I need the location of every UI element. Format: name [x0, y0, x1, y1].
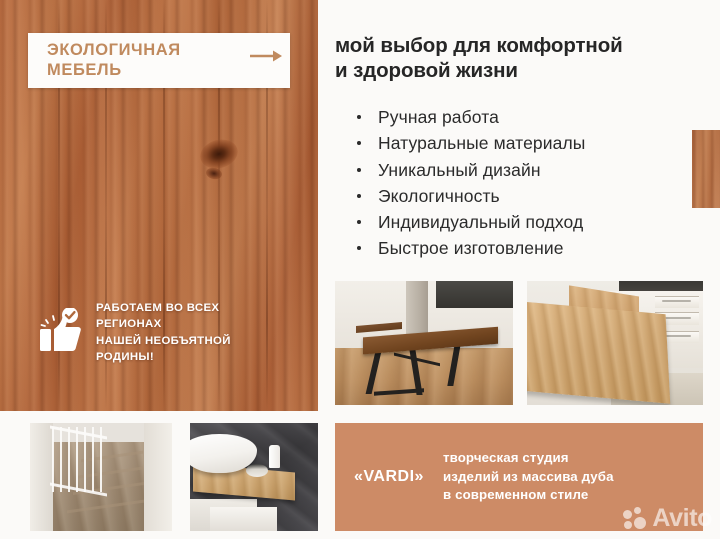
bullet-icon [357, 115, 361, 119]
list-item: Уникальный дизайн [352, 157, 702, 183]
brand-name: «VARDI» [335, 468, 443, 486]
bullet-icon [357, 220, 361, 224]
feature-label: Индивидуальный подход [378, 212, 583, 232]
feature-label: Ручная работа [378, 107, 499, 127]
wood-knot [205, 166, 223, 180]
bullet-icon [357, 141, 361, 145]
list-item: Натуральные материалы [352, 130, 702, 156]
feature-label: Натуральные материалы [378, 133, 585, 153]
wood-knot [197, 135, 241, 172]
soap-dish [246, 464, 268, 477]
stair-railing [50, 427, 107, 492]
thumbs-up-check-icon [40, 308, 82, 356]
baluster [84, 427, 86, 492]
page-title: мой выбор для комфортной и здоровой жизн… [335, 33, 703, 83]
photo-floor [335, 348, 513, 405]
feature-label: Уникальный дизайн [378, 160, 541, 180]
countertop-slab [527, 301, 670, 404]
regions-coverage-text: РАБОТАЕМ ВО ВСЕХ РЕГИОНАХ НАШЕЙ НЕОБЪЯТН… [96, 300, 231, 365]
eco-furniture-badge: ЭКОЛОГИЧНАЯ МЕБЕЛЬ [28, 33, 290, 88]
list-item: Экологичность [352, 183, 702, 209]
feature-label: Экологичность [378, 186, 500, 206]
feature-label: Быстрое изготовление [378, 238, 564, 258]
brand-banner: «VARDI» творческая студия изделий из мас… [335, 423, 703, 531]
bullet-icon [357, 246, 361, 250]
oak-bathroom-vanity-photo [190, 423, 318, 531]
features-list: Ручная работа Натуральные материалы Уник… [352, 104, 702, 262]
bullet-icon [357, 168, 361, 172]
arrow-right-icon [242, 49, 290, 72]
list-item: Ручная работа [352, 104, 702, 130]
wood-edge-strip [692, 130, 720, 208]
advert-canvas: ЭКОЛОГИЧНАЯ МЕБЕЛЬ РАБОТАЕМ ВО ВСЕХ РЕГИ… [0, 0, 720, 539]
regions-coverage-block: РАБОТАЕМ ВО ВСЕХ РЕГИОНАХ НАШЕЙ НЕОБЪЯТН… [40, 300, 231, 365]
eco-badge-label: ЭКОЛОГИЧНАЯ МЕБЕЛЬ [28, 41, 242, 79]
cabinet-handle [662, 317, 691, 319]
bullet-icon [357, 194, 361, 198]
vanity-pedestal [210, 507, 277, 531]
list-item: Индивидуальный подход [352, 209, 702, 235]
photo-dark-wall [436, 281, 513, 308]
baluster [76, 427, 78, 492]
baluster [60, 427, 62, 492]
cabinet-handle [662, 300, 691, 302]
baluster [68, 427, 70, 492]
brand-description: творческая студия изделий из массива дуб… [443, 449, 614, 504]
wooden-dining-table-photo [335, 281, 513, 405]
oak-kitchen-countertop-photo [527, 281, 703, 405]
list-item: Быстрое изготовление [352, 235, 702, 261]
wooden-staircase-photo [30, 423, 172, 531]
handrail [50, 426, 107, 440]
photo-wall-right [144, 423, 172, 531]
cosmetic-tube [269, 445, 279, 469]
